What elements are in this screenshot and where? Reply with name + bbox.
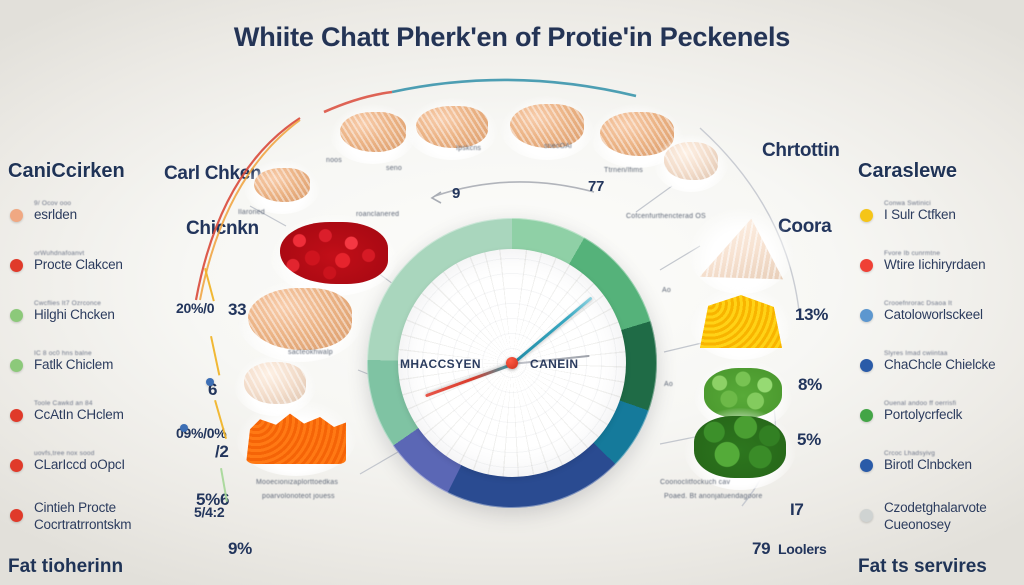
- legend-item-sublabel: IC 8 oc0 hns balne: [34, 350, 183, 357]
- legend-item-sublabel: uovfs,tree nox sood: [34, 450, 183, 457]
- section-label-left-mid: Chicnkn: [186, 218, 259, 240]
- legend-item[interactable]: Crooefnrorac Dsaoa ItCatoloworlsckeel: [858, 300, 1024, 328]
- food-chicken-top-2: [416, 106, 488, 148]
- caption-broccoli-line2: Poaed. Bt anonjatuendagoore: [664, 492, 762, 501]
- percentage-callout: 8%: [798, 375, 822, 395]
- gauge-hub: [506, 357, 518, 369]
- gauge-label-right: CANEIN: [530, 357, 578, 371]
- legend-item-label: esrlden: [34, 207, 183, 224]
- caption-top-5: Ttrnen/lfims: [604, 166, 643, 175]
- poster-canvas: Whiite Chatt Pherk'en of Protie'in Pecke…: [0, 0, 1024, 585]
- percentage-callout: 9%: [228, 539, 252, 559]
- legend-item-label: Cintieh Procte Cocrtratrrontskm: [34, 500, 183, 534]
- caption-right-corn: Ao: [662, 286, 671, 295]
- legend-item-sublabel: Fvore Ib cunrmtne: [884, 250, 1024, 257]
- legend-item-label: Procte Clakcen: [34, 257, 183, 274]
- legend-item[interactable]: Cintieh Procte Cocrtratrrontskm: [8, 500, 183, 534]
- caption-fillets: sacteokhwalp: [288, 348, 333, 357]
- legend-item[interactable]: 9/ Ocov oooesrlden: [8, 200, 183, 228]
- callout-dot-left: [206, 378, 214, 386]
- percentage-callout: /2: [215, 442, 229, 462]
- legend-color-swatch-icon: [10, 209, 23, 222]
- legend-color-swatch-icon: [860, 309, 873, 322]
- percentage-callout: Loolers: [778, 541, 826, 557]
- section-label-right-top: Chrtottin: [762, 140, 840, 162]
- legend-right: Caraslewe Conwa SwtiniciI Sulr CtfkenFvo…: [858, 160, 1024, 578]
- food-chicken-breast-small: [244, 362, 306, 404]
- legend-color-swatch-icon: [10, 259, 23, 272]
- legend-color-swatch-icon: [860, 409, 873, 422]
- food-broccoli: [694, 416, 786, 478]
- food-fish-fillet: [698, 216, 784, 282]
- legend-left-heading: CaniCcirken: [8, 160, 183, 183]
- percentage-callout: 77: [588, 178, 604, 195]
- legend-item-sublabel: Crcoc Lhadsyivg: [884, 450, 1024, 457]
- legend-item-sublabel: 9/ Ocov ooo: [34, 200, 183, 207]
- caption-carrot-line2: poarvolonoteot jouess: [262, 492, 335, 501]
- caption-chicken-strips: roanclanered: [356, 210, 399, 219]
- percentage-callout: 5/4:2: [194, 504, 224, 520]
- legend-left-footer: Fat tioherinn: [8, 556, 183, 578]
- legend-item-label: Portolycrfeclk: [884, 407, 1024, 424]
- legend-item[interactable]: Fvore Ib cunrmtneWtire Iichiryrdaen: [858, 250, 1024, 278]
- legend-item-label: Wtire Iichiryrdaen: [884, 257, 1024, 274]
- legend-right-heading: Caraslewe: [858, 160, 1024, 183]
- caption-top-4: snecOAl: [544, 142, 572, 151]
- legend-item-label: Czodetghalarvote Cueonosey: [884, 500, 1024, 534]
- legend-item-sublabel: Crooefnrorac Dsaoa It: [884, 300, 1024, 307]
- legend-item[interactable]: Ouenal andoo ff oerrisfiPortolycrfeclk: [858, 400, 1024, 428]
- legend-item[interactable]: uovfs,tree nox soodCLarIccd oOpcI: [8, 450, 183, 478]
- food-carrot-dice: [246, 408, 346, 464]
- legend-item-label: I Sulr Ctfken: [884, 207, 1024, 224]
- legend-item[interactable]: Crcoc LhadsyivgBirotl Clnbcken: [858, 450, 1024, 478]
- legend-item[interactable]: Slyres Imad cwiintaaChaChcle Chielcke: [858, 350, 1024, 378]
- legend-color-swatch-icon: [860, 359, 873, 372]
- food-chicken-top-1: [340, 112, 406, 152]
- legend-item[interactable]: IC 8 oc0 hns balneFatlk Chiclem: [8, 350, 183, 378]
- legend-item[interactable]: orWuhdnafoanvtProcte Clakcen: [8, 250, 183, 278]
- food-chicken-fillets: [248, 288, 352, 350]
- percentage-callout: 79: [752, 539, 770, 559]
- legend-color-swatch-icon: [10, 509, 23, 522]
- food-corn: [700, 294, 782, 348]
- legend-item-label: Hilghi Chcken: [34, 307, 183, 324]
- legend-item-sublabel: Ouenal andoo ff oerrisfi: [884, 400, 1024, 407]
- legend-color-swatch-icon: [860, 509, 873, 522]
- percentage-callout: 9: [452, 185, 460, 202]
- percentage-callout: 5%: [797, 430, 821, 450]
- caption-right-peas: Ao: [664, 380, 673, 389]
- legend-color-swatch-icon: [10, 459, 23, 472]
- legend-item-sublabel: Toole Cawkd an 84: [34, 400, 183, 407]
- legend-item[interactable]: Toole Cawkd an 84CcAtIn CHclem: [8, 400, 183, 428]
- caption-top-1: noos: [326, 156, 342, 165]
- legend-item-label: Fatlk Chiclem: [34, 357, 183, 374]
- legend-color-swatch-icon: [860, 209, 873, 222]
- legend-color-swatch-icon: [10, 359, 23, 372]
- leader-yellow-1: [204, 268, 215, 301]
- food-chicken-top-5: [664, 142, 718, 180]
- legend-item-label: CcAtIn CHclem: [34, 407, 183, 424]
- legend-item[interactable]: Cwcflies It7 OzrconceHilghi Chcken: [8, 300, 183, 328]
- food-berries: [280, 222, 388, 284]
- protein-gauge-chart: MHACCSYEN CANEIN: [367, 218, 657, 508]
- percentage-callout: 33: [228, 300, 246, 320]
- percentage-callout: I7: [790, 500, 804, 520]
- legend-item-sublabel: Conwa Swtinici: [884, 200, 1024, 207]
- legend-item[interactable]: Czodetghalarvote Cueonosey: [858, 500, 1024, 534]
- legend-item-sublabel: Slyres Imad cwiintaa: [884, 350, 1024, 357]
- legend-color-swatch-icon: [10, 409, 23, 422]
- percentage-callout: 13%: [795, 305, 828, 325]
- caption-carrot-line1: Mooecionizaplorttoedkas: [256, 478, 338, 487]
- legend-color-swatch-icon: [860, 459, 873, 472]
- caption-top-2: seno: [386, 164, 402, 173]
- gauge-label-left: MHACCSYEN: [400, 357, 481, 371]
- legend-item-sublabel: Cwcflies It7 Ozrconce: [34, 300, 183, 307]
- page-title: Whiite Chatt Pherk'en of Protie'in Pecke…: [0, 22, 1024, 53]
- legend-item-label: ChaChcle Chielcke: [884, 357, 1024, 374]
- leader-yellow-2: [210, 336, 220, 376]
- caption-right-white: Cofcenfurthencterad OS: [626, 212, 706, 221]
- legend-item[interactable]: Conwa SwtiniciI Sulr Ctfken: [858, 200, 1024, 228]
- caption-upper-left: Ilaroned: [238, 208, 265, 217]
- legend-item-label: Catoloworlsckeel: [884, 307, 1024, 324]
- legend-item-label: Birotl Clnbcken: [884, 457, 1024, 474]
- caption-broccoli-line1: Coonoclitfockuch cav: [660, 478, 730, 487]
- legend-item-sublabel: orWuhdnafoanvt: [34, 250, 183, 257]
- caption-top-3: Ipskcns: [456, 144, 481, 153]
- legend-color-swatch-icon: [860, 259, 873, 272]
- legend-item-label: CLarIccd oOpcI: [34, 457, 183, 474]
- legend-right-footer: Fat ts servires: [858, 556, 1024, 578]
- legend-color-swatch-icon: [10, 309, 23, 322]
- food-nugget-upper-left: [254, 168, 310, 202]
- legend-left: CaniCcirken 9/ Ocov oooesrldenorWuhdnafo…: [8, 160, 183, 578]
